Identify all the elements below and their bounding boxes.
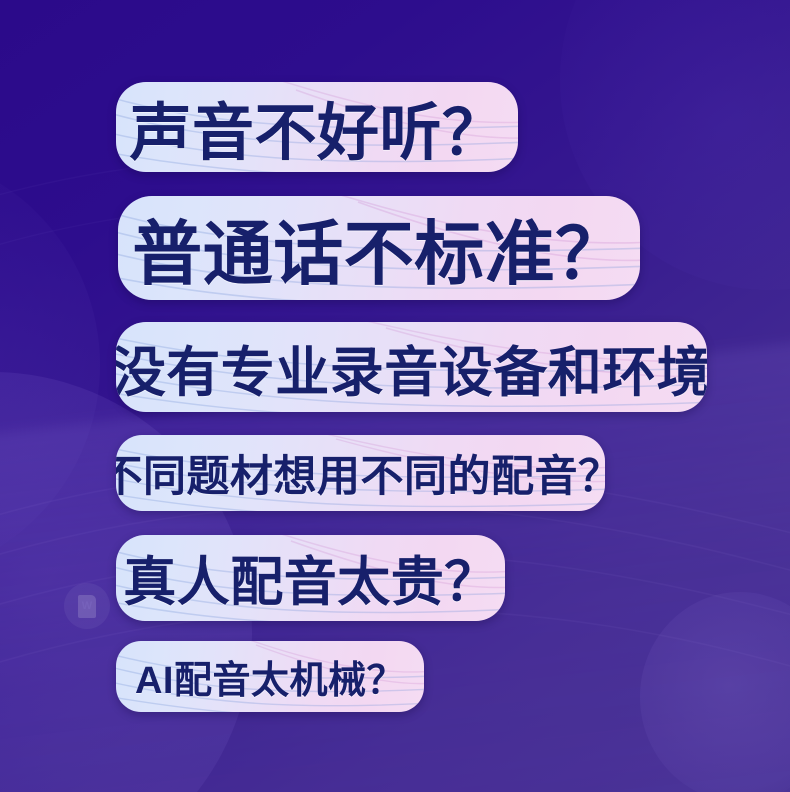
pill-label: 声音不好听？ (129, 82, 504, 172)
pain-point-pill-5[interactable]: 真人配音太贵？ (116, 535, 505, 621)
document-glyph (78, 595, 96, 618)
poster-canvas: 声音不好听？ 普通话不标准？ (0, 0, 790, 792)
pain-point-pill-1[interactable]: 声音不好听？ (116, 82, 518, 172)
pill-label: 真人配音太贵？ (123, 540, 498, 616)
pill-label: 普通话不标准？ (132, 198, 626, 299)
pain-point-pill-3[interactable]: 没有专业录音设备和环境 (116, 322, 707, 412)
pill-label: AI配音太机械？ (135, 649, 405, 704)
pain-point-pill-2[interactable]: 普通话不标准？ (118, 196, 640, 300)
word-watermark-icon (64, 583, 110, 629)
pill-label: 没有专业录音设备和环境 (116, 328, 707, 407)
pill-label: 不同题材想用不同的配音？ (116, 442, 605, 504)
pain-point-pill-6[interactable]: AI配音太机械？ (116, 641, 424, 712)
pain-point-pill-4[interactable]: 不同题材想用不同的配音？ (116, 435, 605, 511)
